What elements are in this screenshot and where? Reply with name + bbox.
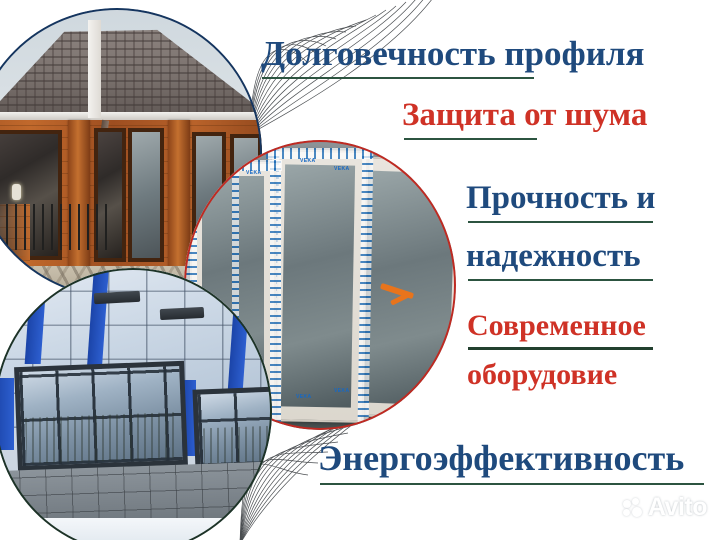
tree-reflection-left — [25, 412, 179, 464]
headline-energy-efficiency: Энергоэффективность — [318, 440, 684, 476]
curtain-wall-glazing-left — [14, 361, 188, 471]
protective-film-middle-top — [266, 148, 372, 159]
balcony-railing — [6, 204, 112, 250]
facade-vent-2 — [160, 307, 205, 320]
headline-noise-protection: Защита от шума — [402, 99, 647, 132]
roof-ridge — [88, 20, 101, 118]
headline-strength-line-1: Прочность и — [466, 182, 655, 215]
headline-rule-4 — [468, 279, 653, 281]
veka-brand-mark-3: VEKA — [300, 158, 316, 164]
avito-dots-logo-icon — [623, 498, 644, 518]
blue-accent-band-4 — [0, 378, 14, 450]
headline-rule-5 — [468, 347, 653, 350]
veka-brand-mark-5: VEKA — [296, 394, 312, 400]
avito-watermark-label: Avito — [648, 495, 707, 520]
photo-circle-glazed-facade — [0, 268, 272, 540]
window-center-b — [128, 128, 164, 262]
headline-rule-2 — [404, 138, 537, 140]
headline-rule-3 — [468, 221, 653, 223]
snow-ground — [0, 518, 272, 540]
veka-brand-mark-1: VEKA — [208, 162, 224, 168]
avito-watermark: Avito — [623, 495, 707, 520]
veka-brand-mark-4: VEKA — [334, 166, 350, 172]
headline-modern-equipment-line-2: оборудовие — [467, 360, 617, 390]
wall-lamp — [12, 184, 21, 200]
headline-rule-7 — [320, 483, 704, 485]
photo-glazed-facade — [0, 268, 272, 540]
headline-modern-equipment-line-1: Современное — [467, 311, 646, 341]
promo-ad-canvas: VEKA VEKA VEKA VEKA VEKA VEKA Долговечно… — [0, 0, 720, 540]
headline-rule-1 — [262, 77, 534, 79]
headline-durability: Долговечность профиля — [261, 36, 644, 71]
curtain-wall-glazing-right — [192, 386, 272, 471]
veka-brand-mark-6: VEKA — [334, 388, 350, 394]
headline-strength-line-2: надежность — [466, 240, 641, 273]
profile-unit-middle — [268, 149, 369, 423]
veka-brand-mark-2: VEKA — [246, 170, 262, 176]
